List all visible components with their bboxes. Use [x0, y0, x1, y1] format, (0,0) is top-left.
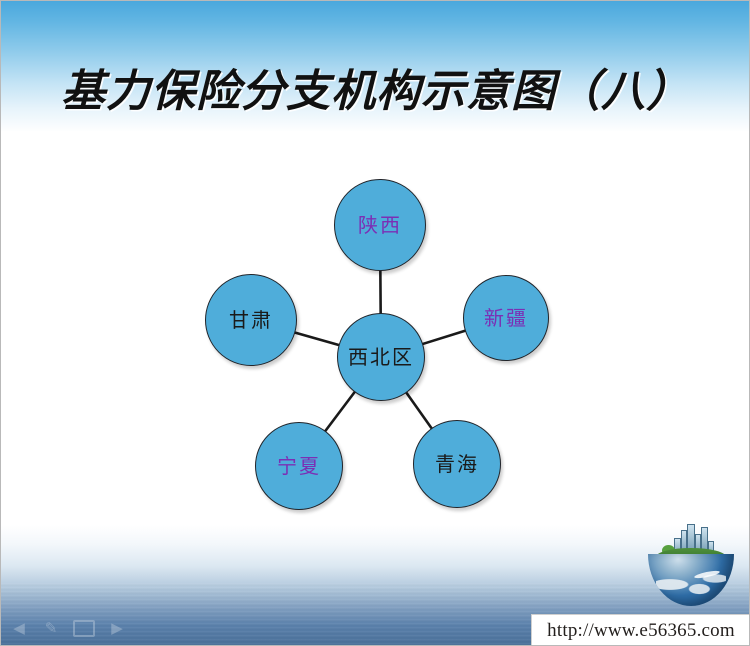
node-branch-qinghai[interactable]: 青海: [413, 420, 501, 508]
node-branch-xinjiang[interactable]: 新疆: [463, 275, 549, 361]
org-diagram: 西北区 陕西 甘肃 新疆 宁夏 青海: [1, 1, 750, 646]
node-label-xinjiang: 新疆: [484, 308, 528, 328]
node-label-shaanxi: 陕西: [358, 215, 402, 235]
globe-city-graphic: [646, 524, 736, 608]
node-center-region[interactable]: 西北区: [337, 313, 425, 401]
watermark-url-box: http://www.e56365.com: [531, 614, 750, 646]
node-branch-gansu[interactable]: 甘肃: [205, 274, 297, 366]
node-branch-ningxia[interactable]: 宁夏: [255, 422, 343, 510]
slideshow-nav[interactable]: ◀ ✎ ▶: [9, 620, 127, 637]
menu-box-icon[interactable]: [73, 620, 95, 637]
globe-icon: [648, 554, 734, 606]
node-label-center: 西北区: [348, 347, 414, 367]
pen-icon[interactable]: ✎: [41, 621, 61, 637]
node-label-ningxia: 宁夏: [277, 456, 321, 476]
next-arrow-icon[interactable]: ▶: [107, 621, 127, 637]
node-label-gansu: 甘肃: [229, 310, 273, 330]
node-branch-shaanxi[interactable]: 陕西: [334, 179, 426, 271]
previous-arrow-icon[interactable]: ◀: [9, 621, 29, 637]
watermark-url: http://www.e56365.com: [547, 620, 735, 642]
slide-canvas: 基力保险分支机构示意图（八） 西北区 陕西 甘肃 新疆 宁夏 青海: [0, 0, 750, 646]
node-label-qinghai: 青海: [435, 454, 479, 474]
